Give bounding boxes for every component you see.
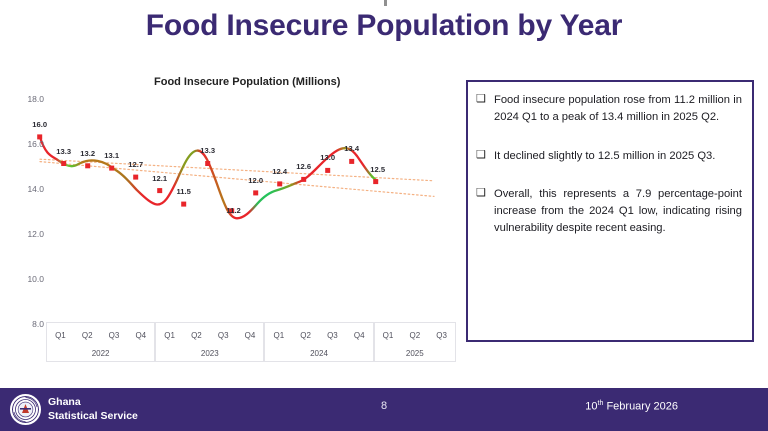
data-label: 12.4 bbox=[272, 167, 288, 176]
data-point bbox=[181, 202, 186, 207]
x-axis-quarter-label: Q1 bbox=[375, 331, 402, 340]
y-axis-tick: 8.0 bbox=[14, 319, 44, 329]
checkbox-bullet-icon: ❑ bbox=[476, 188, 489, 199]
page-title: Food Insecure Population by Year bbox=[0, 8, 768, 44]
data-label: 13.0 bbox=[320, 153, 335, 162]
data-label: 13.1 bbox=[104, 151, 120, 160]
data-label: 16.0 bbox=[32, 120, 47, 129]
bullet-item: ❑ Food insecure population rose from 11.… bbox=[476, 92, 742, 126]
x-axis-quarter-label: Q3 bbox=[210, 331, 237, 340]
x-axis-quarter-label: Q3 bbox=[101, 331, 128, 340]
x-axis-year-label: 2023 bbox=[156, 348, 263, 361]
bullet-text: Food insecure population rose from 11.2 … bbox=[494, 92, 742, 126]
x-axis-quarter-label: Q4 bbox=[237, 331, 264, 340]
x-axis-year-group: Q1 Q2 Q3 2025 bbox=[374, 323, 456, 361]
data-point bbox=[205, 161, 210, 166]
x-axis-year-label: 2025 bbox=[375, 348, 455, 361]
chart-title: Food Insecure Population (Millions) bbox=[154, 76, 340, 88]
x-axis-quarter-row: Q1 Q2 Q3 Q4 bbox=[156, 323, 263, 348]
line-chart-svg: 16.0 13.3 13.2 13.1 12.7 12.1 11.5 13.3 … bbox=[14, 94, 454, 334]
data-point bbox=[85, 163, 90, 168]
x-axis-year-group: Q1 Q2 Q3 Q4 2024 bbox=[264, 323, 373, 361]
x-axis-year-group: Q1 Q2 Q3 Q4 2023 bbox=[155, 323, 264, 361]
x-axis-quarter-row: Q1 Q2 Q3 Q4 bbox=[47, 323, 154, 348]
insights-textbox: ❑ Food insecure population rose from 11.… bbox=[466, 80, 754, 342]
chart-plot-area: 16.0 13.3 13.2 13.1 12.7 12.1 11.5 13.3 … bbox=[14, 94, 454, 334]
scan-artifact bbox=[384, 0, 387, 6]
data-point bbox=[133, 175, 138, 180]
data-label: 11.2 bbox=[226, 206, 240, 215]
data-label: 13.3 bbox=[200, 146, 215, 155]
x-axis-quarter-label: Q1 bbox=[47, 331, 74, 340]
data-label: 13.3 bbox=[56, 147, 71, 156]
footer-date-rest: February 2026 bbox=[603, 401, 678, 413]
x-axis-quarter-label: Q1 bbox=[265, 331, 292, 340]
data-label: 11.5 bbox=[177, 187, 192, 196]
bullet-item: ❑ It declined slightly to 12.5 million i… bbox=[476, 148, 742, 165]
x-axis-quarter-label: Q4 bbox=[346, 331, 373, 340]
y-axis-tick: 14.0 bbox=[14, 184, 44, 194]
x-axis-quarter-label: Q2 bbox=[292, 331, 319, 340]
x-axis-quarter-label: Q2 bbox=[183, 331, 210, 340]
x-axis-quarter-label: Q4 bbox=[127, 331, 154, 340]
data-label: 12.7 bbox=[128, 160, 143, 169]
x-axis-quarter-row: Q1 Q2 Q3 Q4 bbox=[265, 323, 372, 348]
data-point bbox=[325, 168, 330, 173]
data-label: 12.5 bbox=[370, 165, 386, 174]
x-axis-quarter-label: Q3 bbox=[428, 331, 455, 340]
x-axis-quarter-label: Q1 bbox=[156, 331, 183, 340]
data-label: 12.6 bbox=[296, 162, 311, 171]
x-axis-year-label: 2024 bbox=[265, 348, 372, 361]
checkbox-bullet-icon: ❑ bbox=[476, 94, 489, 105]
data-point bbox=[301, 177, 306, 182]
data-point bbox=[109, 166, 114, 171]
y-axis-tick: 10.0 bbox=[14, 274, 44, 284]
x-axis-quarter-label: Q2 bbox=[401, 331, 428, 340]
bullet-text: Overall, this represents a 7.9 percentag… bbox=[494, 186, 742, 236]
bullet-item: ❑ Overall, this represents a 7.9 percent… bbox=[476, 186, 742, 236]
checkbox-bullet-icon: ❑ bbox=[476, 150, 489, 161]
data-label: 13.2 bbox=[80, 149, 95, 158]
y-axis-tick: 12.0 bbox=[14, 229, 44, 239]
data-point bbox=[349, 159, 354, 164]
data-point bbox=[157, 188, 162, 193]
x-axis-year-label: 2022 bbox=[47, 348, 154, 361]
data-point bbox=[253, 190, 258, 195]
slide-footer: Ghana Statistical Service 8 10th Februar… bbox=[0, 388, 768, 431]
footer-date-day: 10 bbox=[585, 401, 597, 413]
y-axis-tick: 18.0 bbox=[14, 94, 44, 104]
data-point bbox=[61, 161, 66, 166]
data-point bbox=[277, 181, 282, 186]
footer-date: 10th February 2026 bbox=[585, 400, 678, 413]
x-axis-quarter-row: Q1 Q2 Q3 bbox=[375, 323, 455, 348]
data-point bbox=[373, 179, 378, 184]
data-label: 13.4 bbox=[344, 144, 360, 153]
x-axis-quarter-label: Q2 bbox=[74, 331, 101, 340]
x-axis: Q1 Q2 Q3 Q4 2022 Q1 Q2 Q3 Q4 2023 Q1 Q2 … bbox=[46, 322, 456, 362]
data-label: 12.1 bbox=[152, 174, 168, 183]
x-axis-year-group: Q1 Q2 Q3 Q4 2022 bbox=[46, 323, 155, 361]
y-axis-tick: 16.0 bbox=[14, 139, 44, 149]
data-label: 12.0 bbox=[248, 176, 263, 185]
slide-canvas: Food Insecure Population by Year Food In… bbox=[0, 0, 768, 431]
bullet-text: It declined slightly to 12.5 million in … bbox=[494, 148, 742, 165]
x-axis-quarter-label: Q3 bbox=[319, 331, 346, 340]
chart-container: Food Insecure Population (Millions) bbox=[14, 72, 454, 362]
